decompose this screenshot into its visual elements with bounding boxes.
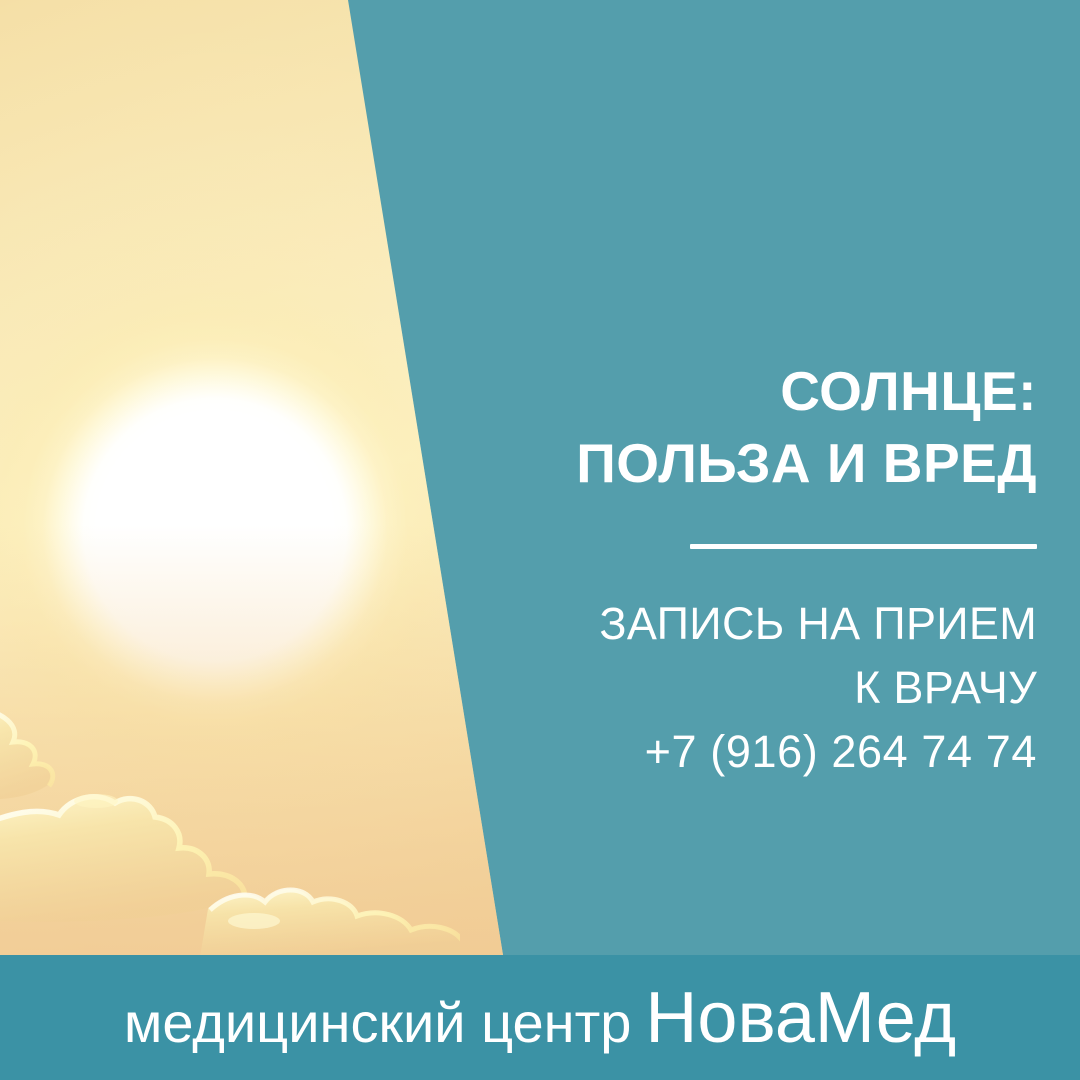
footer-bar: медицинский центрНоваМед: [0, 955, 1080, 1080]
headline-line-1: СОЛНЦЕ:: [417, 355, 1037, 427]
content-panel: СОЛНЦЕ: ПОЛЬЗА И ВРЕД ЗАПИСЬ НА ПРИЕМ К …: [520, 0, 1080, 955]
appointment-line-2: К ВРАЧУ: [397, 656, 1037, 720]
headline-line-2: ПОЛЬЗА И ВРЕД: [417, 427, 1037, 499]
footer-brand-name: НоваМед: [645, 978, 956, 1058]
footer-prefix: медицинский центр: [124, 991, 632, 1054]
clouds: [0, 705, 460, 955]
phone-number[interactable]: +7 (916) 264 74 74: [397, 720, 1037, 784]
page-title: СОЛНЦЕ: ПОЛЬЗА И ВРЕД: [417, 355, 1037, 499]
poster: СОЛНЦЕ: ПОЛЬЗА И ВРЕД ЗАПИСЬ НА ПРИЕМ К …: [0, 0, 1080, 1080]
title-divider: [690, 544, 1037, 549]
appointment-block: ЗАПИСЬ НА ПРИЕМ К ВРАЧУ +7 (916) 264 74 …: [397, 592, 1037, 784]
appointment-line-1: ЗАПИСЬ НА ПРИЕМ: [397, 592, 1037, 656]
footer-brand-line: медицинский центрНоваМед: [0, 977, 1080, 1059]
